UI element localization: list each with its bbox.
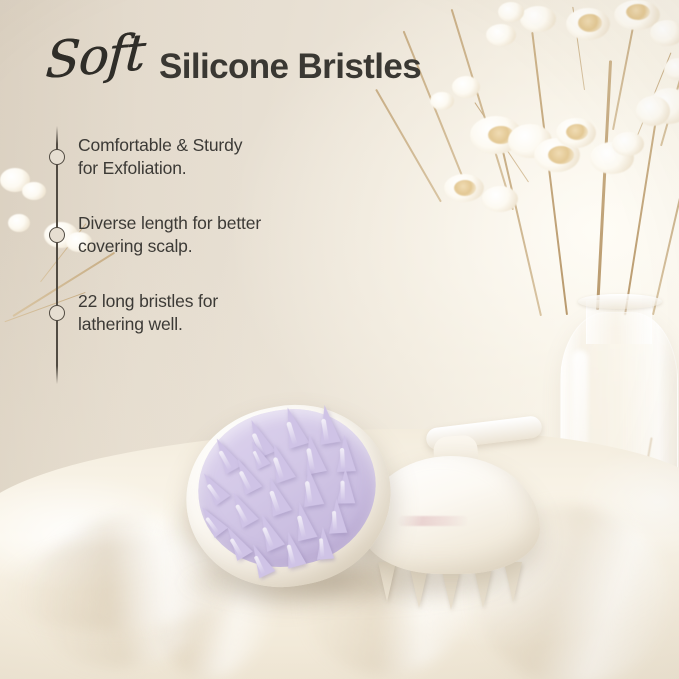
feature-1-line-2: for Exfoliation. [78, 157, 242, 180]
circle-bullet-icon [49, 227, 65, 243]
feature-text-3: 22 long bristles for lathering well. [78, 290, 218, 337]
circle-bullet-icon [49, 149, 65, 165]
feature-item-1: Comfortable & Sturdy for Exfoliation. [40, 118, 370, 196]
feature-2-line-1: Diverse length for better [78, 212, 261, 235]
feature-item-2: Diverse length for better covering scalp… [40, 196, 370, 274]
headline-script-word: Soft [44, 26, 152, 86]
feature-2-line-2: covering scalp. [78, 235, 261, 258]
feature-list: Comfortable & Sturdy for Exfoliation. Di… [40, 118, 370, 352]
feature-item-3: 22 long bristles for lathering well. [40, 274, 370, 352]
product-banner: Soft Silicone Bristles Comfortable & Stu… [0, 0, 679, 679]
feature-text-2: Diverse length for better covering scalp… [78, 212, 261, 259]
lavender-scalp-brush [186, 398, 406, 598]
headline-bold-words: Silicone Bristles [159, 49, 421, 84]
feature-text-1: Comfortable & Sturdy for Exfoliation. [78, 134, 242, 181]
circle-bullet-icon [49, 305, 65, 321]
page-title: Soft Silicone Bristles [44, 36, 421, 86]
feature-3-line-2: lathering well. [78, 313, 218, 336]
brand-logo-deboss [398, 516, 468, 526]
feature-1-line-1: Comfortable & Sturdy [78, 134, 242, 157]
feature-3-line-1: 22 long bristles for [78, 290, 218, 313]
